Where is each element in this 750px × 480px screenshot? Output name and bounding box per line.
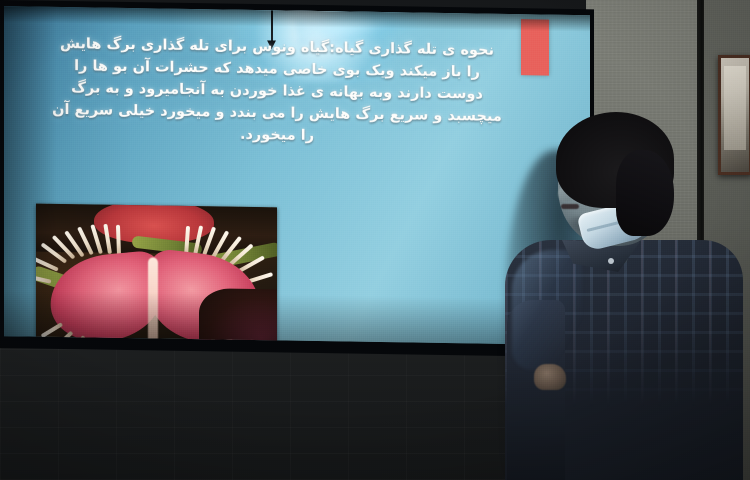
boy-hand: [534, 364, 566, 390]
boy-presenter: [0, 0, 750, 480]
boy-mouth: [561, 204, 579, 209]
boy-shoulder-highlight: [512, 250, 582, 370]
boy-hair-back: [616, 150, 674, 236]
photo-scene: نحوه ی تله گذاری گیاه:گیاه ونوس برای تله…: [0, 0, 750, 480]
boy-collar-button: [608, 258, 614, 264]
